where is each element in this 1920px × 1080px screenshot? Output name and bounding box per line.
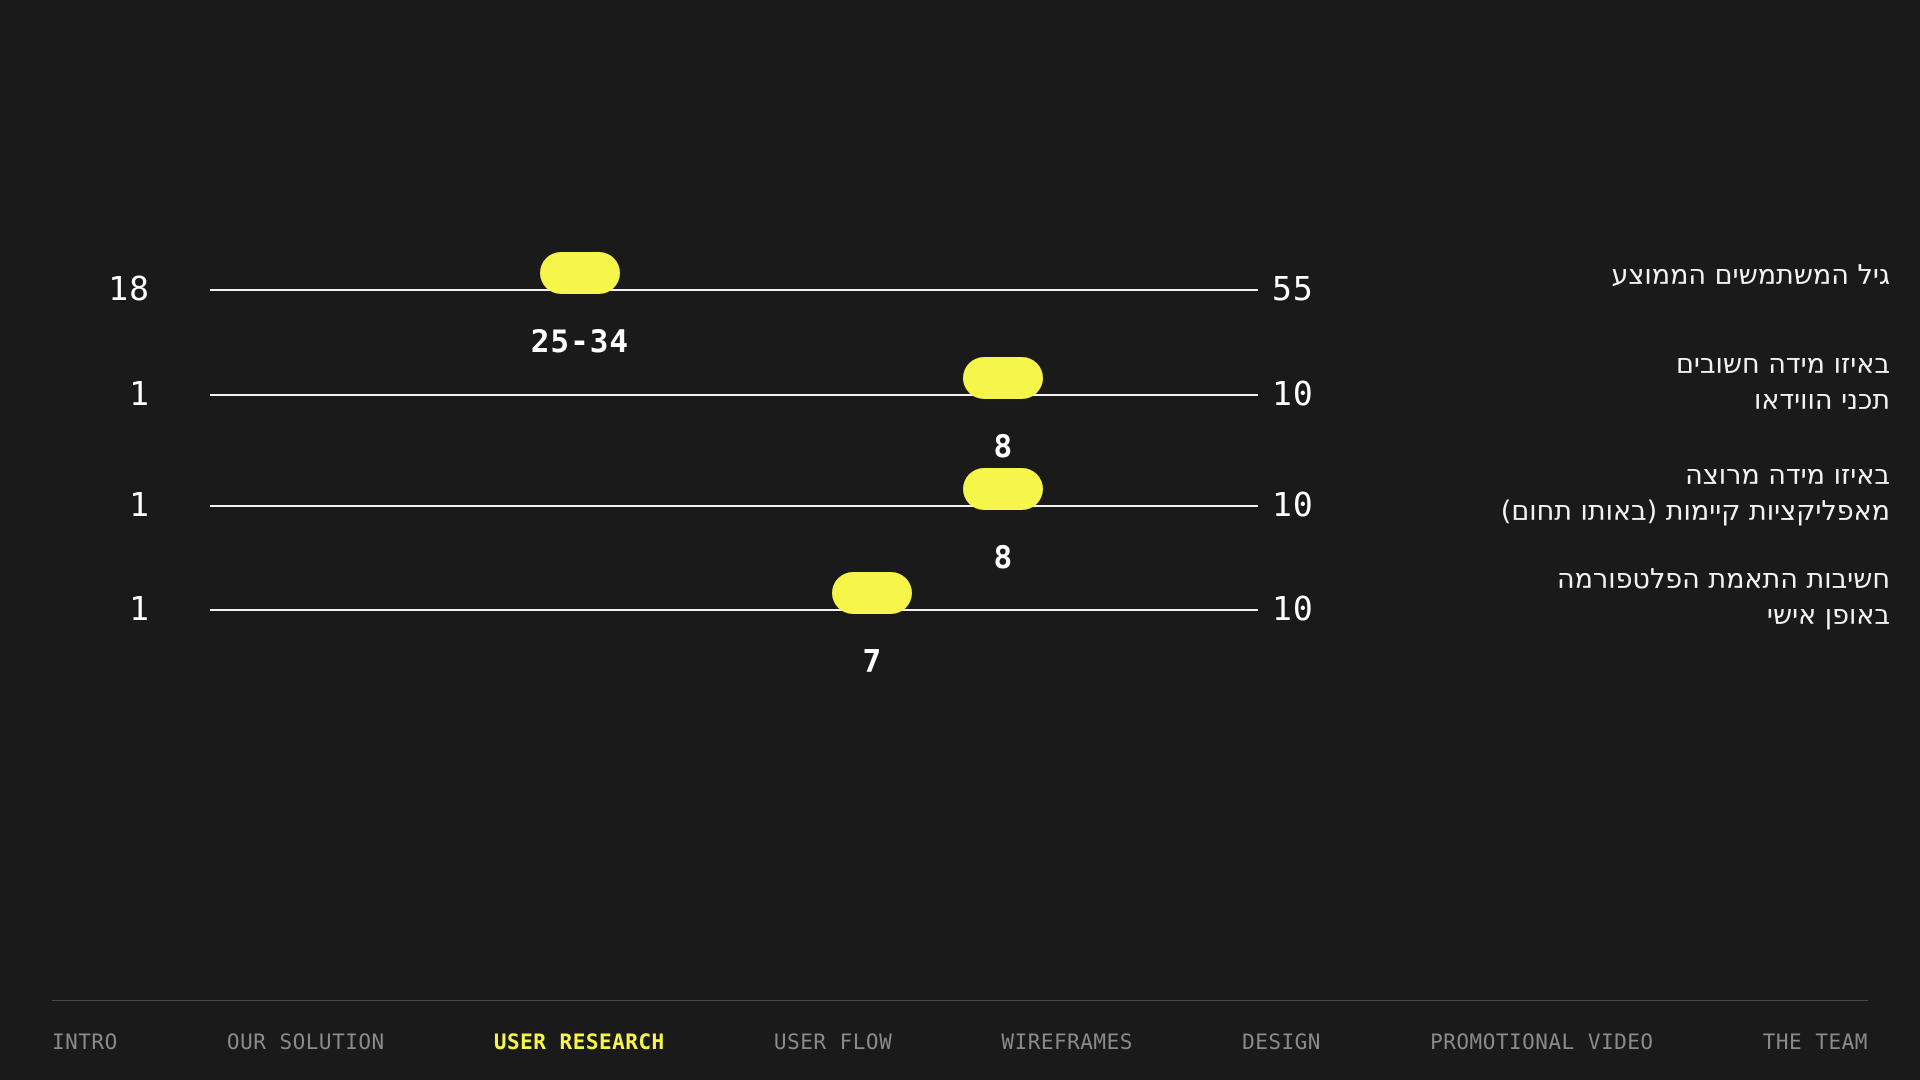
slider-question-label: באיזו מידה מרוצהמאפליקציות קיימות (באותו… — [1370, 458, 1890, 530]
nav-item-user-flow[interactable]: USER FLOW — [774, 1030, 892, 1054]
nav-item-list: INTROOUR SOLUTIONUSER RESEARCHUSER FLOWW… — [52, 1030, 1868, 1054]
slider-value-label: 7 — [722, 647, 1022, 678]
slide-canvas: 185525-34גיל המשתמשים הממוצע1108באיזו מי… — [0, 0, 1920, 1080]
slider-min-label: 1 — [0, 592, 150, 625]
slider-value-label: 25-34 — [430, 327, 730, 358]
nav-item-the-team[interactable]: THE TEAM — [1763, 1030, 1868, 1054]
nav-item-design[interactable]: DESIGN — [1242, 1030, 1321, 1054]
nav-item-our-solution[interactable]: OUR SOLUTION — [227, 1030, 385, 1054]
slider-min-label: 1 — [0, 377, 150, 410]
slider-question-label: חשיבות התאמת הפלטפורמהבאופן אישי — [1370, 562, 1890, 634]
slider-track[interactable] — [210, 505, 1258, 507]
slider-handle[interactable] — [963, 468, 1043, 510]
question-line: חשיבות התאמת הפלטפורמה — [1370, 562, 1890, 598]
slider-value-label: 8 — [853, 432, 1153, 463]
slider-row: 1107חשיבות התאמת הפלטפורמהבאופן אישי — [0, 592, 1920, 712]
question-line: גיל המשתמשים הממוצע — [1370, 258, 1890, 294]
nav-item-user-research[interactable]: USER RESEARCH — [494, 1030, 665, 1054]
slider-question-label: גיל המשתמשים הממוצע — [1370, 258, 1890, 294]
nav-item-wireframes[interactable]: WIREFRAMES — [1001, 1030, 1132, 1054]
nav-item-promotional-video[interactable]: PROMOTIONAL VIDEO — [1430, 1030, 1653, 1054]
slider-value-label: 8 — [853, 543, 1153, 574]
nav-item-intro[interactable]: INTRO — [52, 1030, 118, 1054]
slider-track[interactable] — [210, 289, 1258, 291]
question-line: באיזו מידה מרוצה — [1370, 458, 1890, 494]
question-line: תכני הווידאו — [1370, 383, 1890, 419]
slider-handle[interactable] — [832, 572, 912, 614]
question-line: באיזו מידה חשובים — [1370, 347, 1890, 383]
slider-track[interactable] — [210, 394, 1258, 396]
question-line: באופן אישי — [1370, 598, 1890, 634]
slider-min-label: 1 — [0, 488, 150, 521]
slider-question-label: באיזו מידה חשוביםתכני הווידאו — [1370, 347, 1890, 419]
slider-min-label: 18 — [0, 272, 150, 305]
nav-divider — [52, 1000, 1868, 1001]
slider-track[interactable] — [210, 609, 1258, 611]
question-line: מאפליקציות קיימות (באותו תחום) — [1370, 494, 1890, 530]
survey-slider-group: 185525-34גיל המשתמשים הממוצע1108באיזו מי… — [0, 0, 1920, 1000]
footer-navigation: INTROOUR SOLUTIONUSER RESEARCHUSER FLOWW… — [52, 1000, 1868, 1080]
slider-handle[interactable] — [540, 252, 620, 294]
slider-handle[interactable] — [963, 357, 1043, 399]
